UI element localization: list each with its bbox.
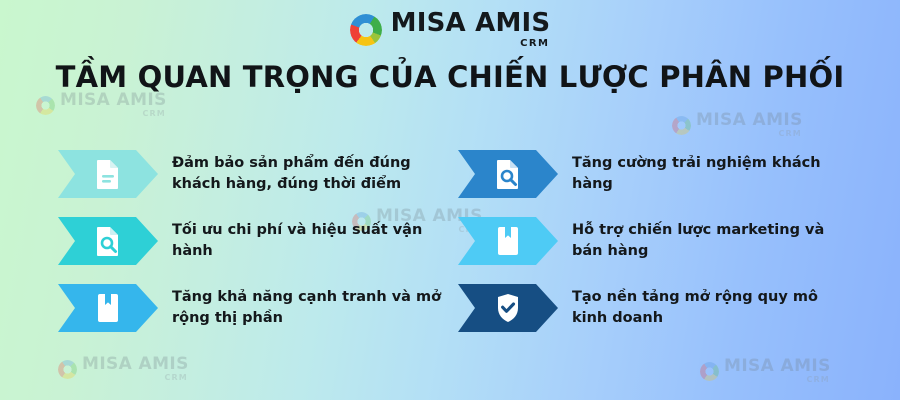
benefit-item: Tạo nền tảng mở rộng quy mô kinh doanh (458, 284, 858, 332)
watermark-brand-sub: CRM (165, 374, 188, 382)
watermark-top-right: MISA AMIS CRM (672, 112, 803, 138)
watermark-text: MISA AMIS CRM (82, 356, 189, 382)
misa-swirl-logo-icon (350, 14, 382, 46)
misa-swirl-logo-icon (672, 116, 691, 135)
benefit-text: Đảm bảo sản phẩm đến đúng khách hàng, đú… (172, 153, 448, 194)
chevron-badge (58, 150, 158, 198)
bookmark-icon (96, 293, 120, 323)
watermark-bottom-right: MISA AMIS CRM (700, 358, 831, 384)
watermark-top-left: MISA AMIS CRM (36, 92, 167, 118)
infographic-poster: MISA AMIS CRM MISA AMIS CRM MISA AMIS CR… (0, 0, 900, 400)
watermark-text: MISA AMIS CRM (696, 112, 803, 138)
watermark-text: MISA AMIS CRM (724, 358, 831, 384)
benefits-column-left: Đảm bảo sản phẩm đến đúng khách hàng, đú… (58, 150, 448, 332)
chevron-badge (58, 284, 158, 332)
chevron-badge (58, 217, 158, 265)
brand-logo: MISA AMIS CRM (0, 10, 900, 49)
watermark-brand-sub: CRM (143, 110, 166, 118)
watermark-brand-sub: CRM (807, 376, 830, 384)
watermark-brand-name: MISA AMIS (82, 356, 189, 373)
brand-name: MISA AMIS (391, 10, 551, 36)
benefit-text: Tăng cường trải nghiệm khách hàng (572, 153, 858, 194)
brand-wordmark: MISA AMIS CRM (391, 10, 551, 49)
misa-swirl-logo-icon (58, 360, 77, 379)
chevron-badge (458, 284, 558, 332)
brand-sub: CRM (520, 39, 549, 49)
watermark-brand-name: MISA AMIS (60, 92, 167, 109)
benefit-text: Hỗ trợ chiến lược marketing và bán hàng (572, 220, 858, 261)
watermark-text: MISA AMIS CRM (60, 92, 167, 118)
shield-check-icon (495, 293, 521, 323)
watermark-brand-name: MISA AMIS (696, 112, 803, 129)
benefit-item: Tối ưu chi phí và hiệu suất vận hành (58, 217, 448, 265)
misa-swirl-logo-icon (700, 362, 719, 381)
misa-swirl-logo-icon (36, 96, 55, 115)
benefit-text: Tạo nền tảng mở rộng quy mô kinh doanh (572, 287, 858, 328)
page-title: TẦM QUAN TRỌNG CỦA CHIẾN LƯỢC PHÂN PHỐI (0, 60, 900, 94)
watermark-brand-name: MISA AMIS (724, 358, 831, 375)
document-icon (95, 159, 121, 189)
benefits-column-right: Tăng cường trải nghiệm khách hàng Hỗ trợ… (458, 150, 858, 332)
document-search-icon (495, 159, 521, 189)
benefit-item: Hỗ trợ chiến lược marketing và bán hàng (458, 217, 858, 265)
document-search-icon (95, 226, 121, 256)
benefit-text: Tăng khả năng cạnh tranh và mở rộng thị … (172, 287, 448, 328)
benefit-text: Tối ưu chi phí và hiệu suất vận hành (172, 220, 448, 261)
chevron-badge (458, 217, 558, 265)
benefit-item: Tăng khả năng cạnh tranh và mở rộng thị … (58, 284, 448, 332)
chevron-badge (458, 150, 558, 198)
bookmark-icon (496, 226, 520, 256)
benefit-item: Tăng cường trải nghiệm khách hàng (458, 150, 858, 198)
watermark-bottom-left: MISA AMIS CRM (58, 356, 189, 382)
watermark-brand-sub: CRM (779, 130, 802, 138)
benefit-item: Đảm bảo sản phẩm đến đúng khách hàng, đú… (58, 150, 448, 198)
